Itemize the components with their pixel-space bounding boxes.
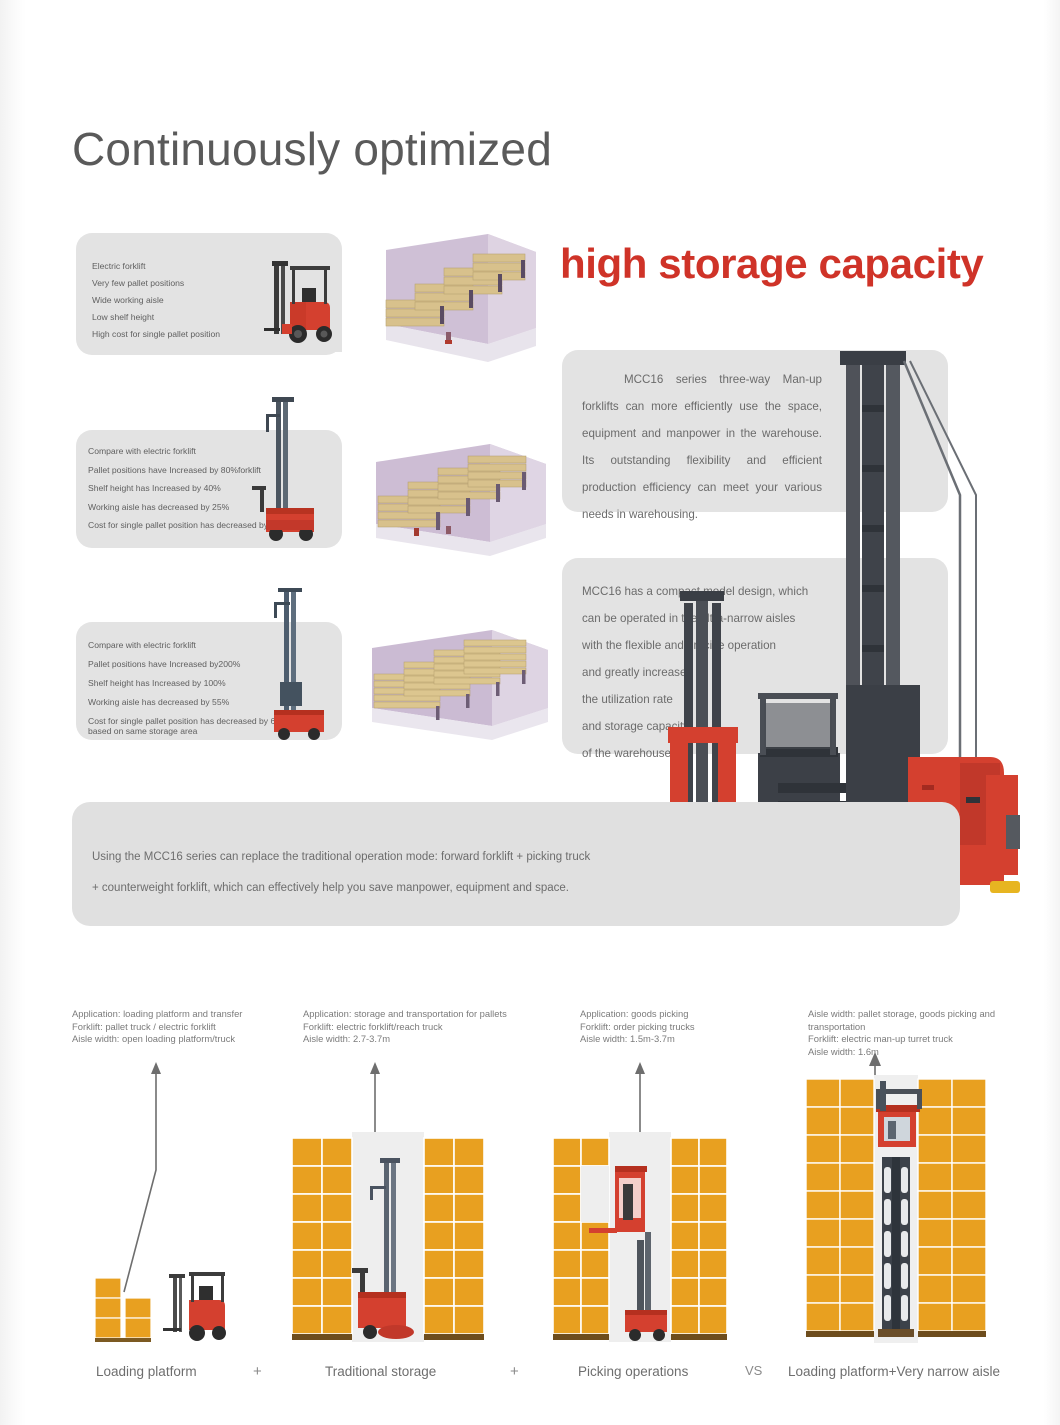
warehouse-illustration-medium-density	[362, 438, 558, 562]
connector-1: +	[253, 1363, 262, 1380]
feature-line: Low shelf height	[92, 309, 220, 326]
caption-line: Application: loading platform and transf…	[72, 1008, 302, 1021]
page-title: Continuously optimized	[72, 122, 552, 176]
caption-line: Forklift: order picking trucks	[580, 1021, 790, 1034]
very-narrow-aisle-illustration	[800, 1075, 1030, 1352]
loading-platform-illustration	[95, 1262, 235, 1351]
caption-line: transportation	[808, 1021, 1038, 1034]
caption-line: Forklift: electric forklift/reach truck	[303, 1021, 553, 1034]
headline-high-storage-capacity: high storage capacity	[560, 240, 983, 288]
application-caption-3: Application: goods picking Forklift: ord…	[580, 1008, 790, 1046]
caption-line: Application: storage and transportation …	[303, 1008, 553, 1021]
application-label-1: Loading platform	[96, 1364, 197, 1379]
application-caption-4: Aisle width: pallet storage, goods picki…	[808, 1008, 1038, 1058]
caption-line: Forklift: electric man-up turret truck	[808, 1033, 1038, 1046]
feature-line: Electric forklift	[92, 258, 220, 275]
page-left-edge	[0, 0, 26, 1425]
caption-line: Aisle width: open loading platform/truck	[72, 1033, 302, 1046]
application-label-2: Traditional storage	[325, 1364, 436, 1379]
connector-3: VS	[745, 1363, 762, 1378]
application-caption-2: Application: storage and transportation …	[303, 1008, 553, 1046]
page-right-edge	[1044, 0, 1060, 1425]
feature-line: Very few pallet positions	[92, 275, 220, 292]
traditional-storage-illustration	[292, 1132, 488, 1351]
warehouse-illustration-low-density	[368, 228, 548, 368]
caption-line: Application: goods picking	[580, 1008, 790, 1021]
picking-operations-illustration	[553, 1132, 733, 1351]
reach-truck-image	[236, 392, 328, 549]
caption-line: Aisle width: pallet storage, goods picki…	[808, 1008, 1038, 1021]
caption-line: Aisle width: 2.7-3.7m	[303, 1033, 553, 1046]
infographic-page: Continuously optimized high storage capa…	[0, 0, 1060, 1425]
summary-banner-text: Using the MCC16 series can replace the t…	[92, 842, 692, 904]
man-up-turret-truck-image	[246, 586, 338, 747]
electric-forklift-image	[246, 258, 342, 357]
application-label-3: Picking operations	[578, 1364, 688, 1379]
caption-line: Aisle width: 1.6m	[808, 1046, 1038, 1059]
caption-line: Forklift: pallet truck / electric forkli…	[72, 1021, 302, 1034]
caption-line: Aisle width: 1.5m-3.7m	[580, 1033, 790, 1046]
warehouse-illustration-high-density	[360, 626, 560, 748]
feature-line: High cost for single pallet position	[92, 326, 220, 343]
feature-card-1-lines: Electric forklift Very few pallet positi…	[92, 258, 220, 343]
banner-line: Using the MCC16 series can replace the t…	[92, 842, 692, 873]
banner-line: + counterweight forklift, which can effe…	[92, 873, 692, 904]
feature-line: Wide working aisle	[92, 292, 220, 309]
application-caption-1: Application: loading platform and transf…	[72, 1008, 302, 1046]
application-label-4: Loading platform+Very narrow aisle	[788, 1364, 1000, 1379]
connector-2: +	[510, 1363, 519, 1380]
